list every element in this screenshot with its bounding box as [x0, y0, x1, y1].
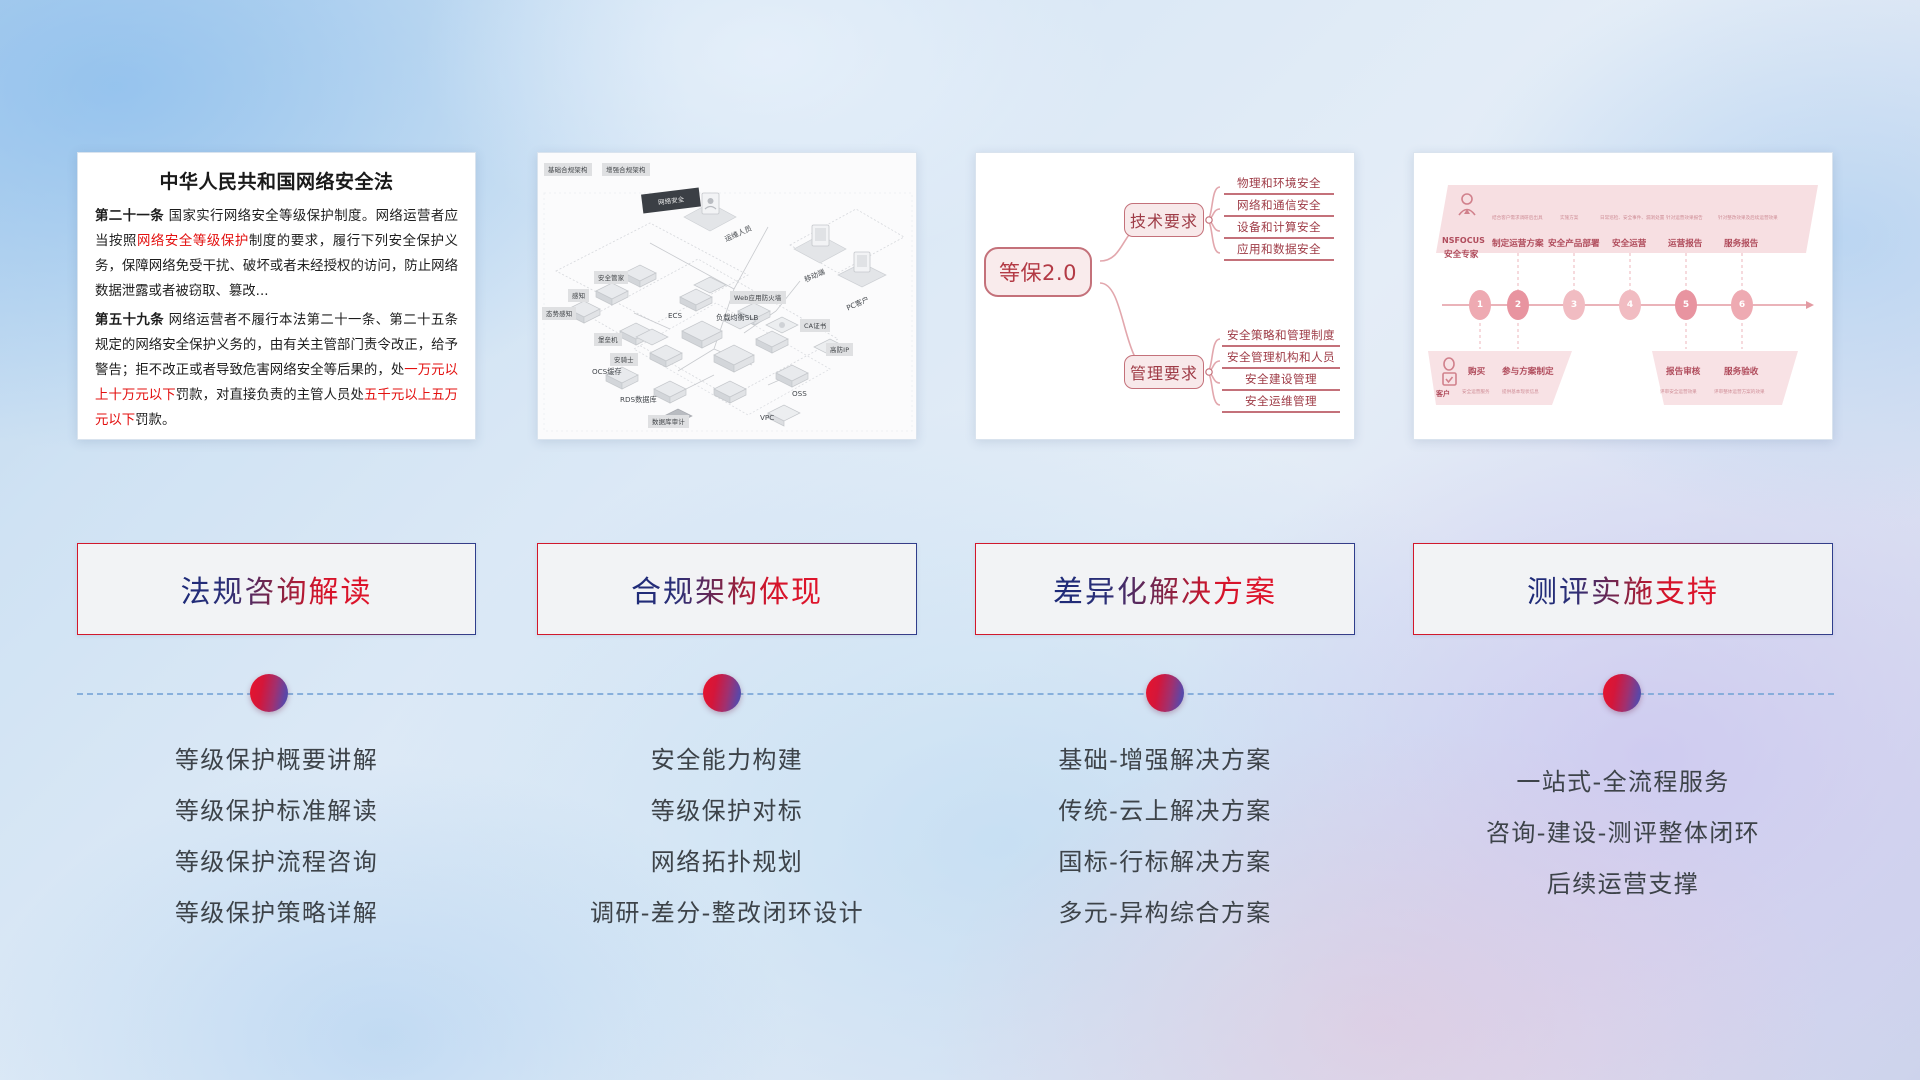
timeline-expert-title-3: 安全运营 [1612, 237, 1646, 249]
banner-assessment-support[interactable]: 测评实施支持 [1413, 543, 1833, 635]
law-article-21-label: 第二十一条 [95, 209, 164, 224]
list-item: 调研-差分-整改闭环设计 [537, 888, 917, 939]
list-item: 等级保护策略详解 [77, 888, 476, 939]
arch-label-db-audit: 数据库审计 [648, 415, 689, 428]
timeline-step-4: 4 [1623, 298, 1637, 312]
banner-row: 法规咨询解读 合规架构体现 差异化解决方案 测评实施支持 [0, 543, 1920, 639]
mindmap-leaf-org[interactable]: 安全管理机构和人员 [1222, 349, 1340, 369]
arch-label-rds-db: RDS数据库 [620, 395, 657, 405]
mindmap-collapse-mgmt [1206, 369, 1212, 375]
card-cybersecurity-law: 中华人民共和国网络安全法 第二十一条 国家实行网络安全等级保护制度。网络运营者应… [77, 152, 476, 440]
arch-label-situation-awareness: 态势感知 [542, 307, 576, 320]
timeline-step-3: 3 [1567, 298, 1581, 312]
timeline-customer-sub-3: 评审安全运营效果 [1660, 389, 1697, 395]
timeline-step-5: 5 [1679, 298, 1693, 312]
timeline-expert-title-5: 服务报告 [1724, 237, 1758, 249]
timeline-expert-brand: NSFOCUS [1442, 236, 1485, 245]
list-item: 等级保护流程咨询 [77, 837, 476, 888]
timeline-step-1: 1 [1473, 298, 1487, 312]
timeline-expert-sub-4: 针对运营效果报告 [1666, 215, 1703, 221]
list-item: 等级保护概要讲解 [77, 735, 476, 786]
banner-differentiated-solution[interactable]: 差异化解决方案 [975, 543, 1355, 635]
timeline-expert-sub-2: 实施方案 [1560, 215, 1578, 221]
law-article-59: 第五十九条 网络运营者不履行本法第二十一条、第二十五条规定的网络安全保护义务的，… [95, 308, 458, 433]
card-mindmap: 等保2.0 技术要求 管理要求 物理和环境安全 网络和通信安全 设备和计算安全 … [975, 152, 1355, 440]
timeline-customer-sub-2: 提供基本现状信息 [1502, 389, 1539, 395]
timeline-dot-1 [250, 674, 288, 712]
timeline-expert-title-1: 制定运营方案 [1492, 237, 1544, 249]
list-item: 安全能力构建 [537, 735, 917, 786]
list-item: 一站式-全流程服务 [1413, 757, 1833, 808]
timeline-expert-sub-3: 日常巡检、安全事件、漏洞处置 [1600, 215, 1664, 221]
banner-regulation-consulting[interactable]: 法规咨询解读 [77, 543, 476, 635]
timeline-expert-role: 安全专家 [1444, 248, 1478, 260]
list-item: 基础-增强解决方案 [975, 735, 1355, 786]
timeline-dot-2 [703, 674, 741, 712]
arch-label-ca-cert: CA证书 [800, 319, 830, 332]
law-article-21-highlight: 网络安全等级保护 [137, 234, 249, 249]
timeline-step-6: 6 [1735, 298, 1749, 312]
timeline-customer-title-1: 购买 [1468, 365, 1485, 377]
architecture-diagram: 基础合规架构 增强合规架构 网络安全 安全管家 感知 态势感知 堡垒机 安骑士 … [538, 153, 916, 439]
mindmap-root[interactable]: 等保2.0 [984, 247, 1092, 297]
timeline-customer-sub-1: 安全运营服务 [1462, 389, 1490, 395]
timeline-dot-4 [1603, 674, 1641, 712]
card-cloud-architecture: 基础合规架构 增强合规架构 网络安全 安全管家 感知 态势感知 堡垒机 安骑士 … [537, 152, 917, 440]
law-article-59-text-c: 罚款。 [135, 413, 175, 428]
list-item: 等级保护对标 [537, 786, 917, 837]
card-row: 中华人民共和国网络安全法 第二十一条 国家实行网络安全等级保护制度。网络运营者应… [0, 0, 1920, 450]
arch-tab-basic[interactable]: 基础合规架构 [544, 163, 592, 176]
law-article-59-text-b: 罚款，对直接负责的主管人员处 [176, 388, 364, 403]
timeline-expert-title-2: 安全产品部署 [1548, 237, 1600, 249]
arch-label-ocs-cache: OCS缓存 [592, 367, 622, 377]
timeline-customer-title-4: 服务验收 [1724, 365, 1758, 377]
arch-tab-enhanced[interactable]: 增强合规架构 [602, 163, 650, 176]
timeline-customer-title-2: 参与方案制定 [1502, 365, 1554, 377]
mindmap-leaf-app-data[interactable]: 应用和数据安全 [1224, 241, 1334, 261]
mindmap-leaf-network[interactable]: 网络和通信安全 [1224, 197, 1334, 217]
mindmap-leaf-policy[interactable]: 安全策略和管理制度 [1222, 327, 1340, 347]
arch-label-ecs: ECS [668, 311, 682, 320]
law-article-21: 第二十一条 国家实行网络安全等级保护制度。网络运营者应当按照网络安全等级保护制度… [95, 204, 458, 304]
list-item: 等级保护标准解读 [77, 786, 476, 837]
banner-compliance-architecture[interactable]: 合规架构体现 [537, 543, 917, 635]
mindmap-branch-technical[interactable]: 技术要求 [1124, 203, 1204, 237]
card-service-timeline: NSFOCUS 安全专家 结合客户需求调研后出具 制定运营方案 实施方案 安全产… [1413, 152, 1833, 440]
service-timeline-svg [1414, 153, 1833, 440]
mindmap-leaf-build[interactable]: 安全建设管理 [1222, 371, 1340, 391]
banner-label-3: 差异化解决方案 [1053, 567, 1277, 611]
arch-label-security-butler: 安全管家 [594, 271, 628, 284]
arch-label-slb: 负载均衡SLB [716, 313, 758, 323]
arch-label-oss: OSS [792, 389, 807, 398]
banner-label-4: 测评实施支持 [1527, 567, 1719, 611]
timeline-customer-title-3: 报告审核 [1666, 365, 1700, 377]
mindmap-collapse-tech [1206, 217, 1212, 223]
mindmap-branch-management[interactable]: 管理要求 [1124, 355, 1204, 389]
timeline-connector [0, 674, 1920, 714]
feature-column-2: 安全能力构建 等级保护对标 网络拓扑规划 调研-差分-整改闭环设计 [537, 735, 917, 939]
timeline-expert-sub-5: 针对整改效果及后续运营效果 [1718, 215, 1778, 221]
arch-label-perception: 感知 [568, 289, 589, 302]
feature-column-3: 基础-增强解决方案 传统-云上解决方案 国标-行标解决方案 多元-异构综合方案 [975, 735, 1355, 939]
arch-label-bastion-host: 堡垒机 [594, 333, 622, 346]
list-item: 咨询-建设-测评整体闭环 [1413, 808, 1833, 859]
law-article-59-label: 第五十九条 [95, 313, 164, 328]
timeline-expert-title-4: 运营报告 [1668, 237, 1702, 249]
banner-label-1: 法规咨询解读 [181, 567, 373, 611]
timeline-expert-sub-1: 结合客户需求调研后出具 [1492, 215, 1543, 221]
feature-column-1: 等级保护概要讲解 等级保护标准解读 等级保护流程咨询 等级保护策略详解 [77, 735, 476, 939]
list-item: 多元-异构综合方案 [975, 888, 1355, 939]
list-item: 国标-行标解决方案 [975, 837, 1355, 888]
list-item: 传统-云上解决方案 [975, 786, 1355, 837]
feature-column-4: 一站式-全流程服务 咨询-建设-测评整体闭环 后续运营支撑 [1413, 757, 1833, 910]
timeline-step-2: 2 [1511, 298, 1525, 312]
banner-label-2: 合规架构体现 [631, 567, 823, 611]
arch-label-vpc: VPC [760, 413, 774, 422]
law-body: 中华人民共和国网络安全法 第二十一条 国家实行网络安全等级保护制度。网络运营者应… [78, 153, 475, 440]
arch-label-waf: Web应用防火墙 [730, 291, 786, 304]
mindmap-leaf-physical[interactable]: 物理和环境安全 [1224, 175, 1334, 195]
list-item: 网络拓扑规划 [537, 837, 917, 888]
timeline-customer-sub-4: 评审整体运营方案的效果 [1714, 389, 1765, 395]
timeline-dot-3 [1146, 674, 1184, 712]
list-item: 后续运营支撑 [1413, 859, 1833, 910]
arch-label-anti-ddos: 高防IP [826, 343, 853, 356]
service-timeline-diagram: NSFOCUS 安全专家 结合客户需求调研后出具 制定运营方案 实施方案 安全产… [1414, 153, 1832, 439]
feature-list-row: 等级保护概要讲解 等级保护标准解读 等级保护流程咨询 等级保护策略详解 安全能力… [0, 735, 1920, 955]
mindmap-diagram: 等保2.0 技术要求 管理要求 物理和环境安全 网络和通信安全 设备和计算安全 … [976, 153, 1354, 439]
arch-label-security-agent: 安骑士 [610, 353, 638, 366]
timeline-customer-role: 客户 [1436, 389, 1450, 399]
mindmap-leaf-device[interactable]: 设备和计算安全 [1224, 219, 1334, 239]
mindmap-leaf-ops[interactable]: 安全运维管理 [1222, 393, 1340, 413]
law-title: 中华人民共和国网络安全法 [95, 167, 458, 194]
timeline-dashed-line [77, 693, 1834, 695]
